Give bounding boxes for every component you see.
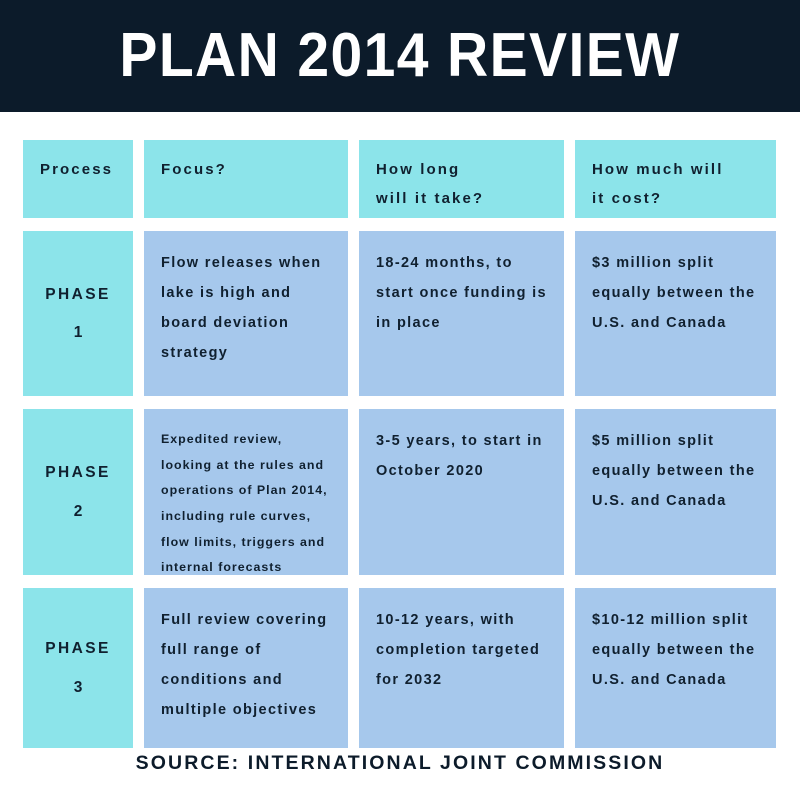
cost-cell-2: $5 million split equally between the U.S… <box>575 409 776 575</box>
duration-cell-2: 3-5 years, to start in October 2020 <box>359 409 564 575</box>
focus-cell-1: Flow releases when lake is high and boar… <box>144 231 348 396</box>
phase-word-2: PHASE <box>45 465 110 481</box>
focus-text-1: Flow releases when lake is high and boar… <box>161 249 331 368</box>
focus-cell-3: Full review covering full range of condi… <box>144 588 348 748</box>
duration-text-1: 18-24 months, to start once funding is i… <box>376 249 547 339</box>
header-cell-cost: How much will it cost? <box>575 140 776 218</box>
header-label-process: Process <box>40 155 116 184</box>
phase-label-cell-3: PHASE 3 <box>23 588 133 748</box>
phase-number-1: 1 <box>74 325 83 341</box>
header-label-duration-line2: will it take? <box>376 184 547 213</box>
source-footer: SOURCE: INTERNATIONAL JOINT COMMISSION <box>0 752 800 775</box>
phases-table: Process Focus? How long will it take? Ho… <box>23 140 777 761</box>
duration-cell-1: 18-24 months, to start once funding is i… <box>359 231 564 396</box>
source-text: SOURCE: INTERNATIONAL JOINT COMMISSION <box>136 752 665 774</box>
header-label-cost-line2: it cost? <box>592 184 759 213</box>
phase-word-1: PHASE <box>45 287 110 303</box>
header-label-cost-line1: How much will <box>592 155 759 184</box>
phase-number-3: 3 <box>74 680 83 696</box>
infographic-page: PLAN 2014 REVIEW Process Focus? How long… <box>0 0 800 800</box>
header-cell-focus: Focus? <box>144 140 348 218</box>
cost-text-1: $3 million split equally between the U.S… <box>592 249 759 339</box>
focus-text-2: Expedited review, looking at the rules a… <box>161 427 331 575</box>
duration-cell-3: 10-12 years, with completion targeted fo… <box>359 588 564 748</box>
cost-text-3: $10-12 million split equally between the… <box>592 606 759 696</box>
title-banner: PLAN 2014 REVIEW <box>0 0 800 112</box>
phase-label-cell-2: PHASE 2 <box>23 409 133 575</box>
focus-cell-2: Expedited review, looking at the rules a… <box>144 409 348 575</box>
duration-text-3: 10-12 years, with completion targeted fo… <box>376 606 547 696</box>
table-row: PHASE 2 Expedited review, looking at the… <box>23 409 777 575</box>
duration-text-2: 3-5 years, to start in October 2020 <box>376 427 547 487</box>
page-title: PLAN 2014 REVIEW <box>120 25 681 87</box>
header-label-duration-line1: How long <box>376 155 547 184</box>
cost-cell-1: $3 million split equally between the U.S… <box>575 231 776 396</box>
phase-word-3: PHASE <box>45 641 110 657</box>
cost-text-2: $5 million split equally between the U.S… <box>592 427 759 517</box>
header-cell-process: Process <box>23 140 133 218</box>
phase-label-cell-1: PHASE 1 <box>23 231 133 396</box>
header-label-focus: Focus? <box>161 155 331 184</box>
table-header-row: Process Focus? How long will it take? Ho… <box>23 140 777 218</box>
table-row: PHASE 1 Flow releases when lake is high … <box>23 231 777 396</box>
focus-text-3: Full review covering full range of condi… <box>161 606 331 725</box>
phase-number-2: 2 <box>74 504 83 520</box>
table-row: PHASE 3 Full review covering full range … <box>23 588 777 748</box>
cost-cell-3: $10-12 million split equally between the… <box>575 588 776 748</box>
header-cell-duration: How long will it take? <box>359 140 564 218</box>
